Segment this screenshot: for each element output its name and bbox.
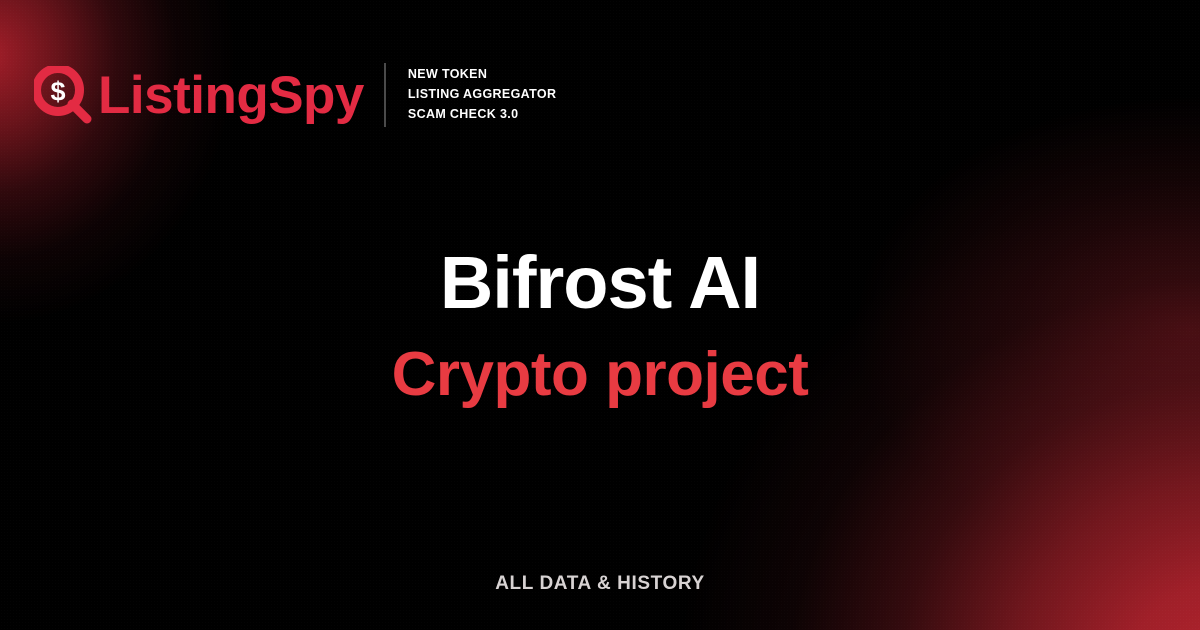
brand-wordmark: ListingSpy bbox=[98, 69, 364, 122]
magnifier-dollar-icon: $ bbox=[34, 66, 92, 124]
brand-header: $ ListingSpy NEW TOKEN LISTING AGGREGATO… bbox=[34, 55, 556, 135]
promo-card: $ ListingSpy NEW TOKEN LISTING AGGREGATO… bbox=[0, 0, 1200, 630]
project-subtitle: Crypto project bbox=[0, 344, 1200, 406]
footer-tagline: ALL DATA & HISTORY bbox=[495, 573, 705, 594]
footer-block: ALL DATA & HISTORY bbox=[0, 573, 1200, 595]
tagline-line-2: LISTING AGGREGATOR bbox=[408, 86, 556, 104]
svg-text:$: $ bbox=[50, 77, 65, 107]
tagline-line-3: SCAM CHECK 3.0 bbox=[408, 106, 556, 124]
hero-block: Bifrost AI Crypto project bbox=[0, 246, 1200, 406]
brand-tagline: NEW TOKEN LISTING AGGREGATOR SCAM CHECK … bbox=[408, 66, 556, 123]
project-title: Bifrost AI bbox=[0, 246, 1200, 320]
header-divider bbox=[384, 63, 386, 127]
tagline-line-1: NEW TOKEN bbox=[408, 66, 556, 84]
